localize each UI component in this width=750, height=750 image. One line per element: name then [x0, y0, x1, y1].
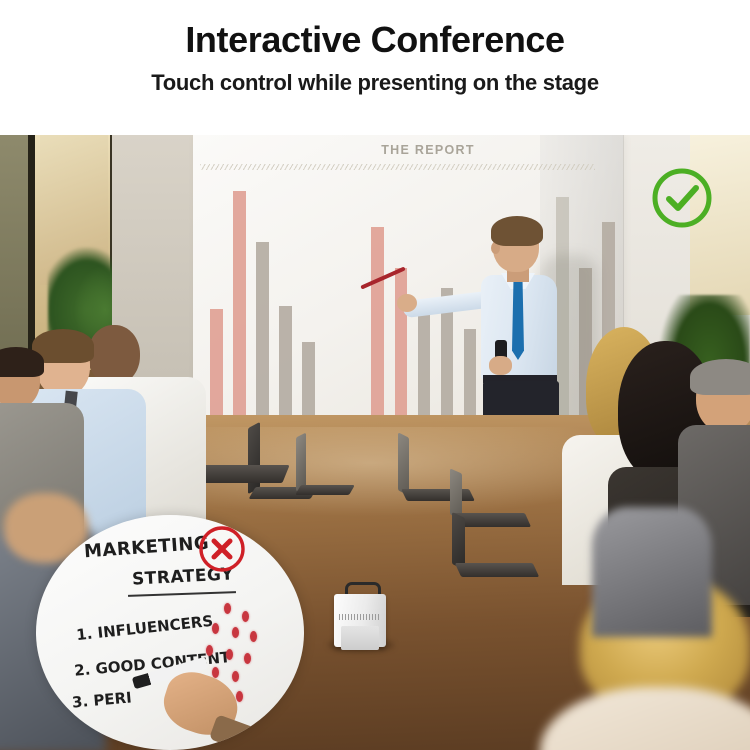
- chart-bar: [256, 242, 269, 426]
- chart-bar: [418, 309, 431, 426]
- whiteboard-magnet-dot: [224, 603, 231, 614]
- presenter-hand-holding-remote: [489, 356, 512, 375]
- screen-hatch-rule: [200, 164, 595, 170]
- header-banner: Interactive Conference Touch control whi…: [0, 0, 750, 135]
- chart-bar: [395, 268, 408, 426]
- projector-vent: [339, 614, 381, 620]
- foreground-attendee-shoulder: [540, 687, 750, 750]
- whiteboard-magnet-dot: [236, 691, 243, 702]
- whiteboard-item-1: 1. INFLUENCERS: [75, 612, 213, 644]
- projector-lens-panel: [341, 626, 379, 650]
- chart-bar: [233, 191, 246, 426]
- whiteboard-magnet-dot: [250, 631, 257, 642]
- whiteboard-heading-line1: MARKETING: [83, 533, 209, 563]
- chart-bar: [302, 342, 315, 426]
- chart-bar: [279, 306, 292, 426]
- check-circle-icon: [649, 165, 715, 231]
- attendee-head: [88, 325, 140, 385]
- page-title: Interactive Conference: [185, 22, 564, 58]
- attendee-hair: [690, 359, 750, 395]
- screenshot-root: Interactive Conference Touch control whi…: [0, 0, 750, 750]
- chart-bar: [371, 227, 384, 426]
- attendee-hair: [0, 347, 44, 377]
- presenter-hand: [397, 294, 417, 312]
- whiteboard-magnet-dot: [212, 667, 219, 678]
- cross-circle-icon: [196, 523, 248, 575]
- whiteboard-magnet-dot: [244, 653, 251, 664]
- whiteboard-magnet-dot: [232, 627, 239, 638]
- conference-room-photo: THE REPORT: [0, 135, 750, 750]
- whiteboard-magnet-dot: [226, 649, 233, 660]
- whiteboard-magnet-dot: [212, 623, 219, 634]
- portable-projector: [334, 582, 386, 647]
- whiteboard-inset-photo: MARKETING STRATEGY 1. INFLUENCERS 2. GOO…: [36, 515, 304, 750]
- whiteboard-magnet-dot: [242, 611, 249, 622]
- presenter-figure: [455, 220, 585, 435]
- whiteboard-magnet-dot: [206, 645, 213, 656]
- whiteboard-magnet-dot: [232, 671, 239, 682]
- chart-bar: [210, 309, 223, 426]
- page-subtitle: Touch control while presenting on the st…: [151, 70, 599, 96]
- screen-report-title: THE REPORT: [338, 143, 518, 157]
- foreground-attendee-suit: [592, 507, 712, 637]
- presenter-hair: [491, 216, 543, 246]
- whiteboard-underline: [128, 591, 236, 597]
- presenter-tie: [512, 282, 524, 360]
- whiteboard-item-3: 3. PERI: [71, 688, 132, 711]
- projector-body: [334, 594, 386, 647]
